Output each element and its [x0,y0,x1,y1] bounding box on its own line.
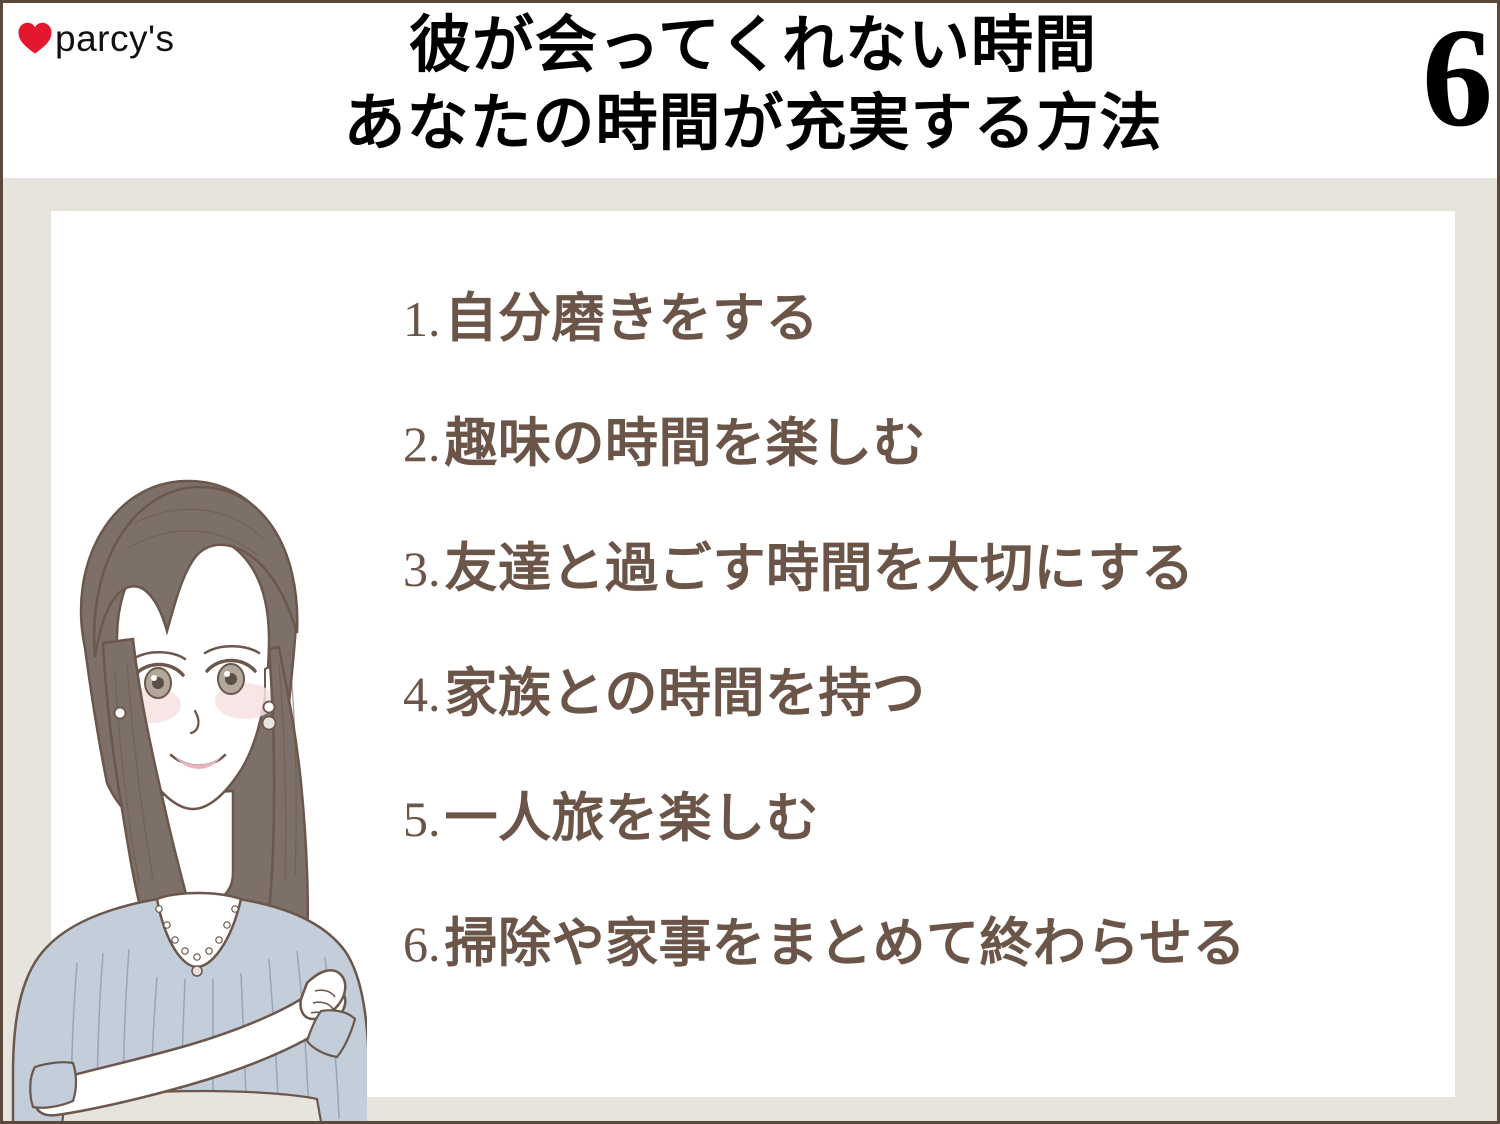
list-item-number: 4. [403,663,441,725]
list-item-label: 一人旅を楽しむ [445,788,820,850]
list-item-number: 1. [403,288,441,350]
list-item-number: 3. [403,538,441,600]
list-item: 3. 友達と過ごす時間を大切にする [403,538,1403,663]
title-line-2: あなたの時間が充実する方法 [203,85,1303,163]
woman-illustration [7,443,367,1123]
list-item: 6. 掃除や家事をまとめて終わらせる [403,913,1403,1038]
header-bar: parcy's 彼が会ってくれない時間 あなたの時間が充実する方法 6 [3,3,1500,178]
methods-list: 1. 自分磨きをする 2. 趣味の時間を楽しむ 3. 友達と過ごす時間を大切にす… [403,288,1403,1038]
list-item: 1. 自分磨きをする [403,288,1403,413]
infographic-page: parcy's 彼が会ってくれない時間 あなたの時間が充実する方法 6 [0,0,1500,1124]
brand-logo-text: parcy's [55,20,175,57]
list-item-label: 掃除や家事をまとめて終わらせる [445,913,1246,975]
list-item-label: 家族との時間を持つ [445,663,926,725]
header-title: 彼が会ってくれない時間 あなたの時間が充実する方法 [203,7,1303,163]
list-item: 2. 趣味の時間を楽しむ [403,413,1403,538]
list-item-number: 2. [403,413,441,475]
list-item-label: 自分磨きをする [445,288,820,350]
list-item-label: 友達と過ごす時間を大切にする [445,538,1195,600]
list-item: 5. 一人旅を楽しむ [403,788,1403,913]
title-line-1: 彼が会ってくれない時間 [203,7,1303,85]
title-number: 6 [1422,0,1493,155]
list-item-number: 6. [403,913,441,975]
list-item-number: 5. [403,788,441,850]
heart-icon [17,21,53,55]
list-item-label: 趣味の時間を楽しむ [445,413,927,475]
brand-logo: parcy's [17,19,175,56]
list-item: 4. 家族との時間を持つ [403,663,1403,788]
